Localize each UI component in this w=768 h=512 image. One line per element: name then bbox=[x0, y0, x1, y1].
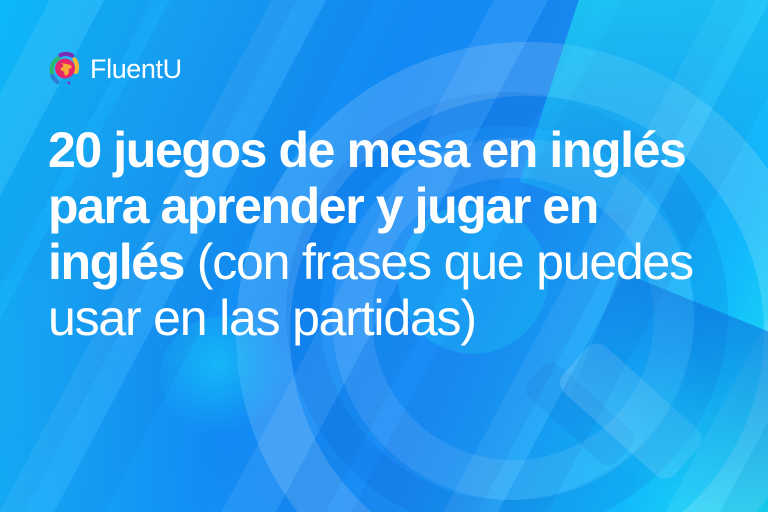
cyan-blob-right bbox=[606, 352, 756, 502]
globe-tail-icon bbox=[555, 338, 708, 484]
headline: 20 juegos de mesa en inglés para aprende… bbox=[48, 122, 728, 346]
globe-tail-shadow-icon bbox=[521, 358, 640, 471]
brand-logo[interactable]: FluentU bbox=[48, 52, 182, 86]
globe-logo-icon bbox=[48, 52, 82, 86]
banner-image: FluentU 20 juegos de mesa en inglés para… bbox=[0, 0, 768, 512]
brand-name: FluentU bbox=[90, 56, 182, 83]
